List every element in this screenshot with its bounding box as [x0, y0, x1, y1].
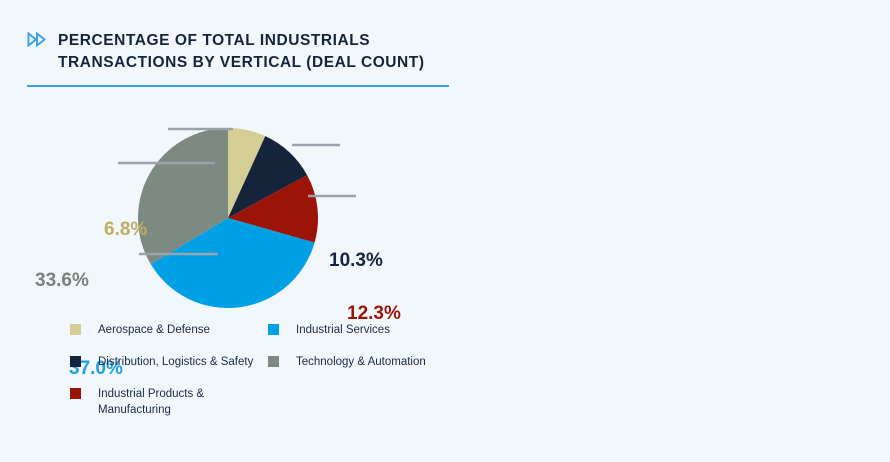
legend-label: Industrial Products &Manufacturing — [98, 386, 204, 419]
left-panel-header: PERCENTAGE OF TOTAL INDUSTRIALS TRANSACT… — [27, 30, 447, 87]
legend-swatch-aerospace-defense — [70, 324, 81, 335]
legend-label: Industrial Services — [296, 322, 390, 338]
legend-label: Distribution, Logistics & Safety — [98, 354, 253, 370]
legend-item: Technology & Automation — [268, 354, 426, 370]
pie-value-label: 10.3% — [329, 250, 383, 272]
pie-chart: 6.8% 10.3% 12.3% 37.0% 33.6% — [0, 100, 470, 330]
pie-chart-panel: PERCENTAGE OF TOTAL INDUSTRIALS TRANSACT… — [0, 0, 470, 462]
legend-item: Distribution, Logistics & Safety — [70, 354, 253, 370]
legend-label: Technology & Automation — [296, 354, 426, 370]
page-title-line2: TRANSACTIONS BY VERTICAL (DEAL COUNT) — [58, 52, 425, 74]
page-title-line1: PERCENTAGE OF TOTAL INDUSTRIALS — [58, 30, 425, 52]
legend-swatch-industrial-products-manufacturing — [70, 388, 81, 399]
legend-item: Industrial Products &Manufacturing — [70, 386, 204, 419]
double-chevron-icon — [27, 32, 47, 47]
pie-value-label: 33.6% — [35, 270, 89, 292]
header-divider — [27, 85, 449, 87]
bar-chart-panel: CAPITAL DEPLOYED BY VERTICAL 02468Capita… — [470, 0, 890, 462]
pie-value-label: 6.8% — [104, 219, 147, 241]
pie-chart-svg — [0, 100, 470, 330]
legend-swatch-technology-automation — [268, 356, 279, 367]
legend-item: Industrial Services — [268, 322, 390, 338]
legend-swatch-industrial-services — [268, 324, 279, 335]
legend-label: Aerospace & Defense — [98, 322, 210, 338]
legend-swatch-distribution-logistics-safety — [70, 356, 81, 367]
pie-slices — [138, 128, 318, 308]
legend-item: Aerospace & Defense — [70, 322, 210, 338]
